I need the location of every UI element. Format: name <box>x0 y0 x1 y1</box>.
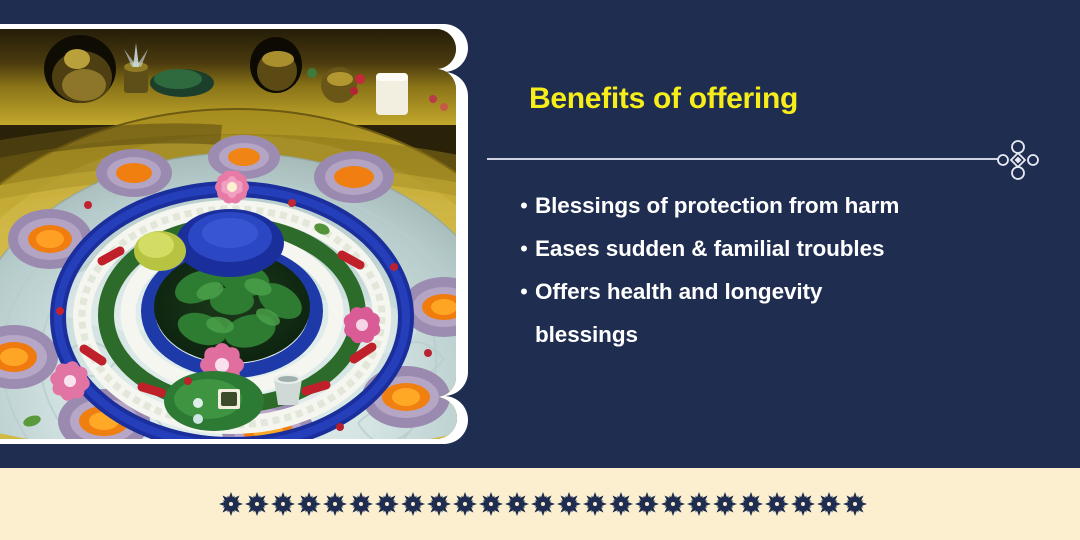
eight-point-star-flower-icon <box>634 491 660 517</box>
list-item: • Offers health and longevity <box>513 272 1073 312</box>
list-item-label: blessings <box>535 315 638 355</box>
list-item: • Eases sudden & familial troubles <box>513 229 1073 269</box>
eight-point-star-flower-icon <box>608 491 634 517</box>
eight-point-star-flower-icon <box>738 491 764 517</box>
eight-point-star-flower-icon <box>348 491 374 517</box>
bottom-decorative-band <box>0 468 1080 540</box>
bullet-marker-icon: • <box>513 229 535 269</box>
band-star-row <box>218 468 868 540</box>
eight-point-star-flower-icon <box>582 491 608 517</box>
eight-point-star-flower-icon <box>816 491 842 517</box>
list-item: • Blessings of protection from harm <box>513 186 1073 226</box>
bullet-marker-icon: • <box>513 186 535 226</box>
photo-artwork <box>0 29 480 439</box>
eight-point-star-flower-icon <box>712 491 738 517</box>
eight-point-star-flower-icon <box>530 491 556 517</box>
eight-point-star-flower-icon <box>322 491 348 517</box>
eight-point-star-flower-icon <box>478 491 504 517</box>
four-lobed-knot-ornament-icon <box>996 140 1040 180</box>
page-title: Benefits of offering <box>529 82 798 116</box>
eight-point-star-flower-icon <box>426 491 452 517</box>
content-column: Benefits of offering • Blessings of prot… <box>487 0 1080 468</box>
list-item-continuation: blessings <box>513 315 1073 355</box>
eight-point-star-flower-icon <box>400 491 426 517</box>
list-item-label: Offers health and longevity <box>535 272 822 312</box>
eight-point-star-flower-icon <box>270 491 296 517</box>
eight-point-star-flower-icon <box>218 491 244 517</box>
eight-point-star-flower-icon <box>686 491 712 517</box>
eight-point-star-flower-icon <box>556 491 582 517</box>
eight-point-star-flower-icon <box>452 491 478 517</box>
eight-point-star-flower-icon <box>374 491 400 517</box>
eight-point-star-flower-icon <box>504 491 530 517</box>
divider-line <box>487 158 999 160</box>
bullet-marker-icon: • <box>513 272 535 312</box>
benefits-list: • Blessings of protection from harm • Ea… <box>513 186 1073 358</box>
eight-point-star-flower-icon <box>244 491 270 517</box>
list-item-label: Blessings of protection from harm <box>535 186 899 226</box>
divider <box>487 140 1080 180</box>
eight-point-star-flower-icon <box>790 491 816 517</box>
eight-point-star-flower-icon <box>660 491 686 517</box>
slide-root: Benefits of offering • Blessings of prot… <box>0 0 1080 540</box>
list-item-label: Eases sudden & familial troubles <box>535 229 884 269</box>
temple-offering-photo <box>0 29 480 439</box>
eight-point-star-flower-icon <box>842 491 868 517</box>
eight-point-star-flower-icon <box>296 491 322 517</box>
eight-point-star-flower-icon <box>764 491 790 517</box>
